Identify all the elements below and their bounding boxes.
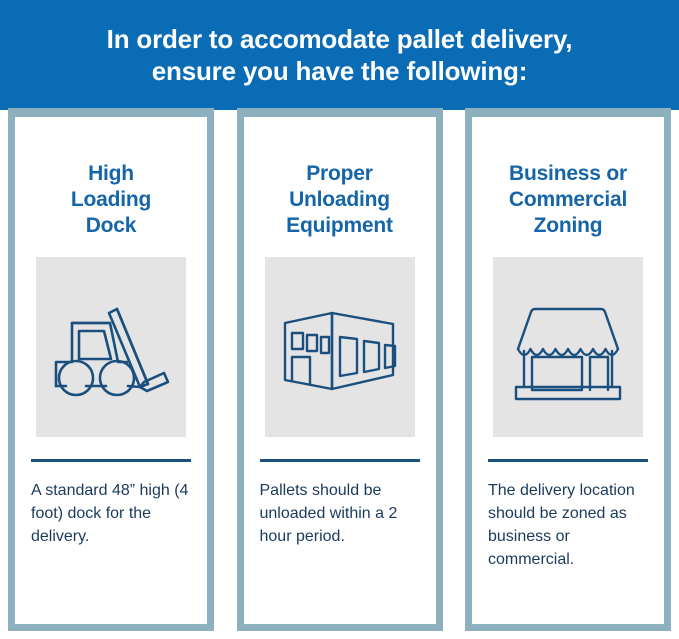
panel-body-high-loading-dock: A standard 48” high (4 foot) dock for th…	[31, 479, 191, 548]
warehouse-building-icon	[277, 287, 403, 407]
storefront-icon	[505, 287, 631, 407]
panel-proper-unloading-equipment: Proper Unloading Equipment	[237, 108, 443, 631]
icon-container-forklift	[36, 257, 186, 437]
panel-body-proper-unloading-equipment: Pallets should be unloaded within a 2 ho…	[260, 479, 420, 548]
panel-business-commercial-zoning: Business or Commercial Zoning	[465, 108, 671, 631]
panel-content-high-loading-dock: High Loading Dock	[15, 117, 207, 624]
columns-container: High Loading Dock	[0, 108, 679, 639]
panel-title-line-3: Dock	[71, 213, 151, 239]
panel-divider-business-commercial-zoning	[488, 459, 648, 462]
panel-title-proper-unloading-equipment: Proper Unloading Equipment	[286, 161, 393, 239]
header-banner: In order to accomodate pallet delivery, …	[0, 0, 679, 110]
panel-title-line-3: Zoning	[509, 213, 627, 239]
header-title-line-1: In order to accomodate pallet delivery,	[107, 23, 573, 55]
infographic-root: In order to accomodate pallet delivery, …	[0, 0, 679, 639]
panel-divider-proper-unloading-equipment	[260, 459, 420, 462]
panel-title-line-2: Loading	[71, 187, 151, 213]
panel-content-business-commercial-zoning: Business or Commercial Zoning	[472, 117, 664, 624]
panel-title-high-loading-dock: High Loading Dock	[71, 161, 151, 239]
icon-container-warehouse	[265, 257, 415, 437]
panel-title-line-2: Commercial	[509, 187, 627, 213]
icon-container-storefront	[493, 257, 643, 437]
panel-high-loading-dock: High Loading Dock	[8, 108, 214, 631]
header-title-line-2: ensure you have the following:	[152, 55, 527, 87]
panel-title-line-1: High	[71, 161, 151, 187]
panel-title-line-2: Unloading	[286, 187, 393, 213]
panel-divider-high-loading-dock	[31, 459, 191, 462]
panel-title-line-1: Business or	[509, 161, 627, 187]
panel-content-proper-unloading-equipment: Proper Unloading Equipment	[244, 117, 436, 624]
forklift-icon	[48, 287, 174, 407]
panel-title-line-1: Proper	[286, 161, 393, 187]
panel-title-business-commercial-zoning: Business or Commercial Zoning	[509, 161, 627, 239]
panel-body-business-commercial-zoning: The delivery location should be zoned as…	[488, 479, 648, 571]
panel-title-line-3: Equipment	[286, 213, 393, 239]
